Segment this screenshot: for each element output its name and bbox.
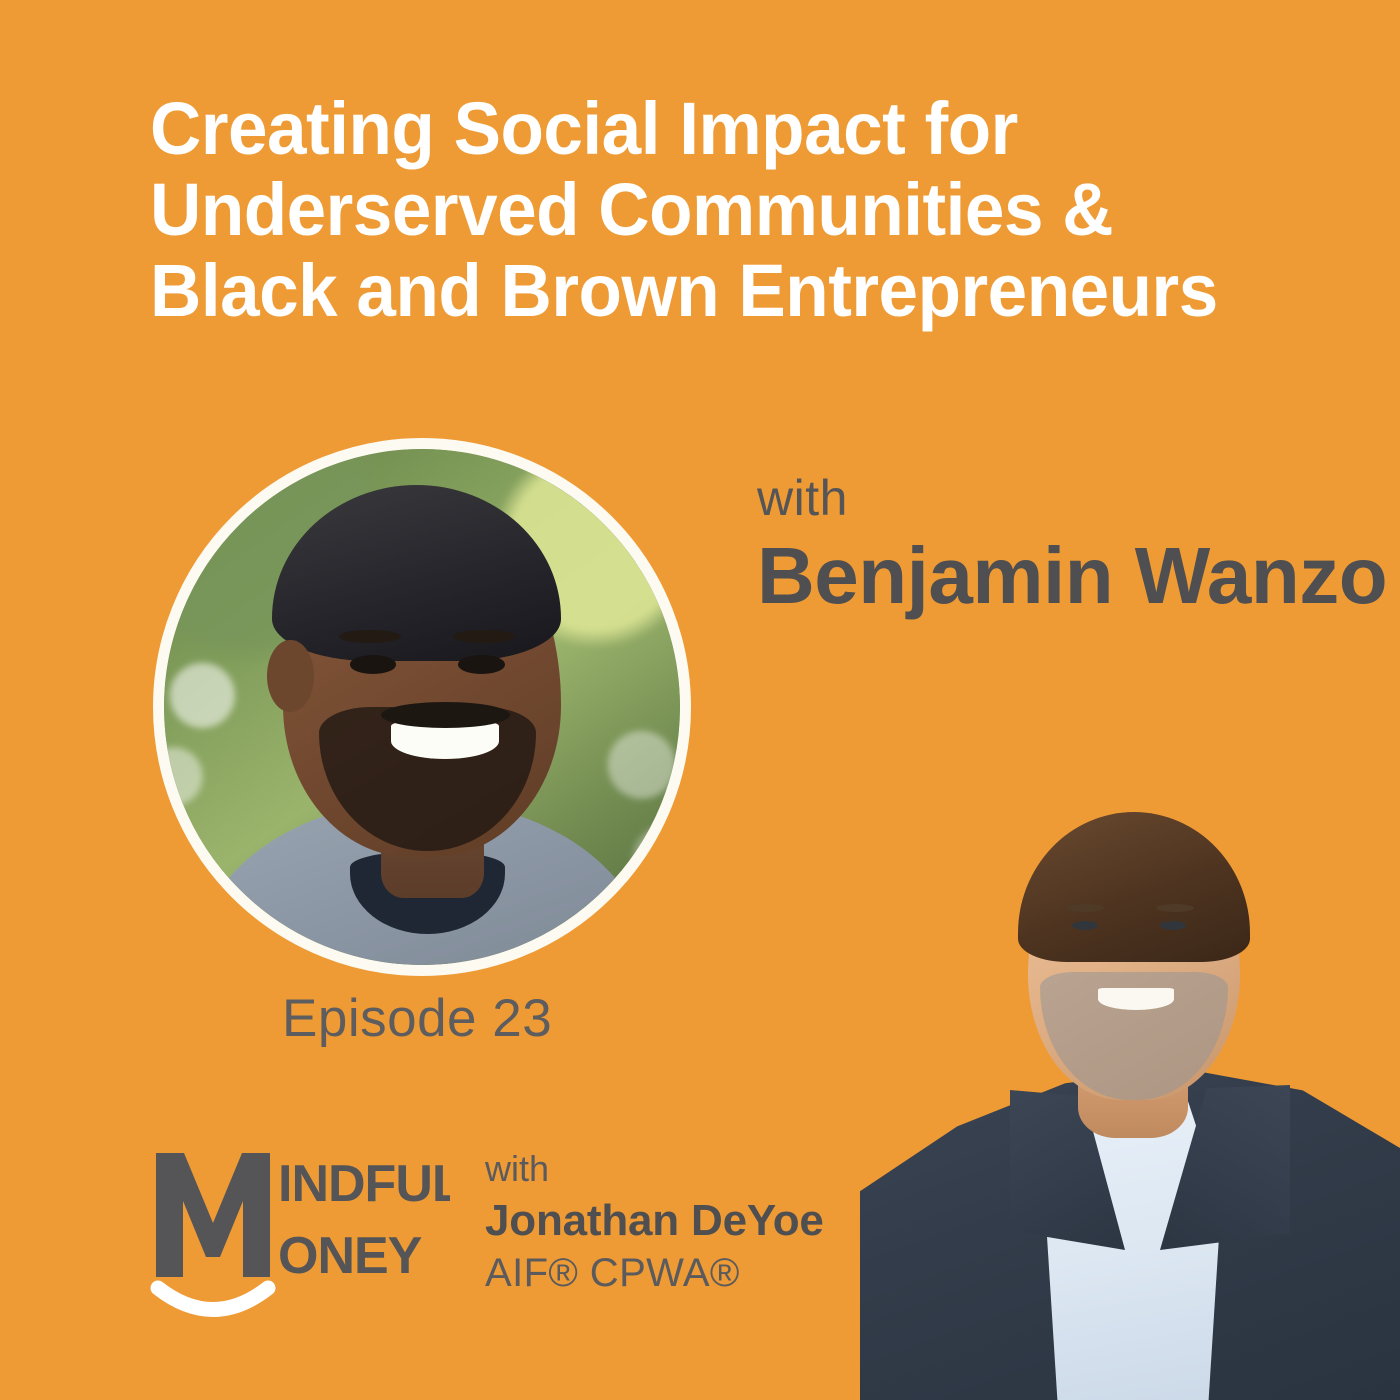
host-brow-right — [1156, 904, 1194, 912]
logo-text-oney: ONEY — [278, 1227, 422, 1285]
host-credit: with Jonathan DeYoe AIF® CPWA® — [485, 1148, 824, 1296]
guest-eye-left — [350, 655, 396, 674]
page-title: Creating Social Impact for Underserved C… — [150, 88, 1330, 331]
mindful-money-logo: INDFUL ONEY — [150, 1145, 450, 1320]
episode-number: Episode 23 — [282, 988, 552, 1049]
guest-smile — [391, 722, 499, 758]
host-eye-left — [1072, 921, 1098, 930]
logo-letter-m — [156, 1153, 270, 1277]
guest-eye-right — [458, 655, 504, 674]
title-line-3: Black and Brown Entrepreneurs — [150, 250, 1283, 331]
host-with-label: with — [485, 1148, 824, 1190]
host-credentials: AIF® CPWA® — [485, 1250, 824, 1296]
smile-curve-icon — [158, 1288, 268, 1310]
title-line-2: Underserved Communities & — [150, 169, 1283, 250]
logo-text-indful: INDFUL — [278, 1155, 450, 1213]
title-line-1: Creating Social Impact for — [150, 88, 1283, 169]
guest-with-label: with — [757, 470, 1387, 526]
logo-mark-icon: INDFUL ONEY — [150, 1145, 450, 1320]
host-brow-left — [1066, 904, 1104, 912]
host-name: Jonathan DeYoe — [485, 1194, 824, 1248]
guest-brow-left — [339, 630, 401, 643]
guest-avatar-image — [164, 449, 680, 965]
guest-ear — [267, 640, 313, 712]
guest-name: Benjamin Wanzo — [757, 530, 1387, 622]
podcast-cover-art: Creating Social Impact for Underserved C… — [0, 0, 1400, 1400]
host-smile — [1098, 988, 1174, 1010]
guest-mustache — [381, 702, 510, 728]
host-avatar — [860, 735, 1400, 1400]
host-eye-right — [1160, 921, 1186, 930]
guest-brow-right — [453, 630, 515, 643]
guest-credit: with Benjamin Wanzo — [757, 470, 1387, 622]
guest-avatar — [153, 438, 691, 976]
host-hair — [1018, 812, 1250, 962]
